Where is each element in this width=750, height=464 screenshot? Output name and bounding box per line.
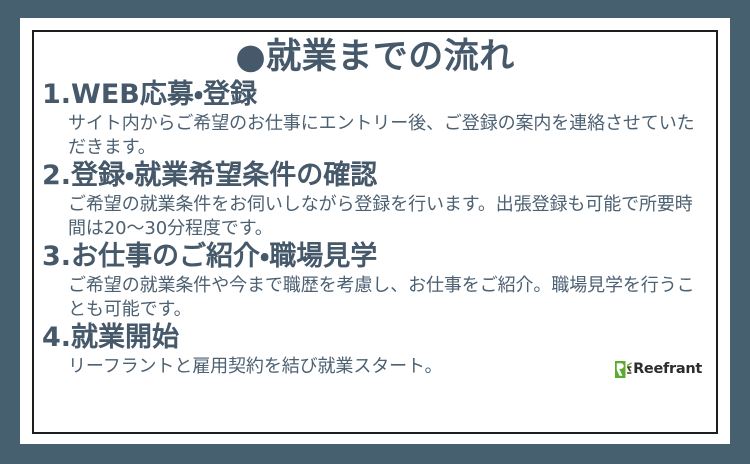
step-item-1: 1.WEB応募・登録 サイト内からご希望のお仕事にエントリー後、ご登録の案内を連… [42, 79, 708, 160]
step-item-2: 2.登録・就業希望条件の確認 ご希望の就業条件をお伺いしながら登録を行います。出… [42, 160, 708, 241]
paper-surface: ●就業までの流れ 1.WEB応募・登録 サイト内からご希望のお仕事にエントリー後… [20, 18, 730, 444]
brand-name-label: Reefrant [633, 362, 702, 377]
page-title: ●就業までの流れ [42, 37, 708, 78]
reefrant-r-logo-icon [615, 361, 632, 378]
step-item-3: 3.お仕事のご紹介・職場見学 ご希望の就業条件や今まで職歴を考慮し、お仕事をご紹… [42, 241, 708, 322]
step-heading-4: 4.就業開始 [42, 322, 708, 355]
step-heading-3: 3.お仕事のご紹介・職場見学 [42, 241, 708, 274]
step-body-4: リーフラントと雇用契約を結び就業スタート。 [42, 355, 442, 379]
brand-logo: Reefrant [615, 361, 708, 379]
step-body-3: ご希望の就業条件や今まで職歴を考慮し、お仕事をご紹介。職場見学を行うことも可能で… [42, 274, 708, 322]
employment-flow-card: ●就業までの流れ 1.WEB応募・登録 サイト内からご希望のお仕事にエントリー後… [0, 0, 750, 464]
step-item-4: 4.就業開始 リーフラントと雇用契約を結び就業スタート。 [42, 322, 708, 379]
steps-list: 1.WEB応募・登録 サイト内からご希望のお仕事にエントリー後、ご登録の案内を連… [42, 79, 708, 378]
step-heading-2: 2.登録・就業希望条件の確認 [42, 160, 708, 193]
step-heading-1: 1.WEB応募・登録 [42, 79, 708, 112]
inner-border-frame: ●就業までの流れ 1.WEB応募・登録 サイト内からご希望のお仕事にエントリー後… [32, 30, 718, 434]
step-4-body-row: リーフラントと雇用契約を結び就業スタート。 Reefrant [42, 355, 708, 379]
step-body-1: サイト内からご希望のお仕事にエントリー後、ご登録の案内を連絡させていただきます。 [42, 112, 708, 160]
step-body-2: ご希望の就業条件をお伺いしながら登録を行います。出張登録も可能で所要時間は20〜… [42, 193, 708, 241]
